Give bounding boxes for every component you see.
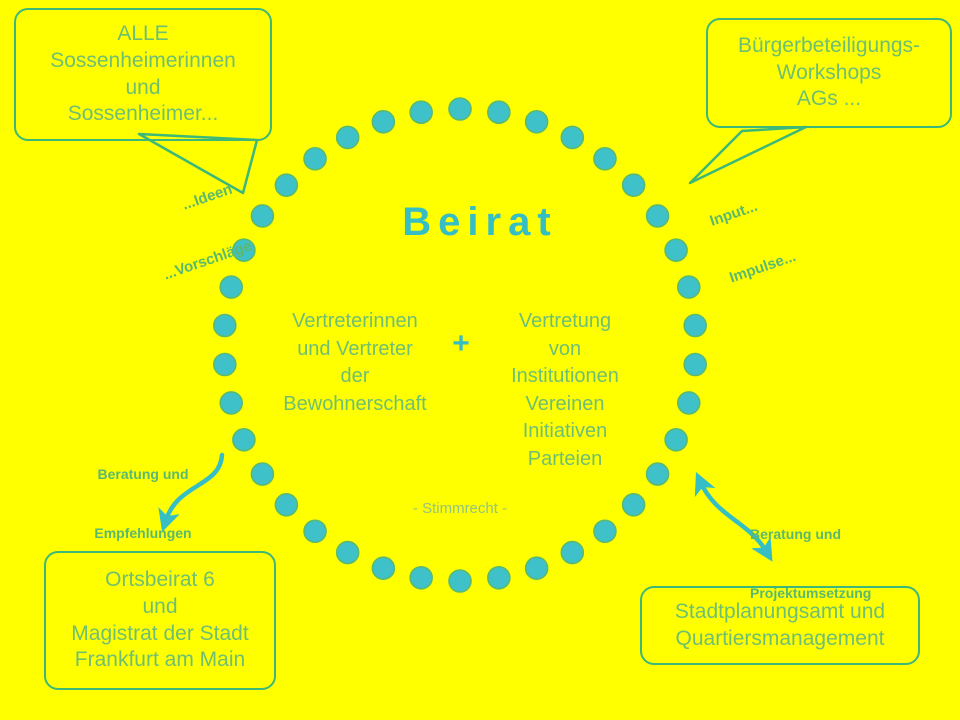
callout-line: Workshops bbox=[777, 60, 882, 87]
ring-dot bbox=[251, 463, 273, 485]
ring-dot bbox=[337, 542, 359, 564]
center-right-line: Initiativen bbox=[482, 418, 648, 446]
ring-dot bbox=[275, 174, 297, 196]
ring-dot bbox=[372, 111, 394, 133]
annotation-line: Beratung und bbox=[750, 525, 920, 545]
center-left-line: der bbox=[272, 363, 438, 391]
ring-dot bbox=[410, 567, 432, 589]
ring-dot bbox=[449, 98, 471, 120]
ring-dot bbox=[526, 557, 548, 579]
center-right-line: Vertretung bbox=[482, 308, 648, 336]
center-right-line: Parteien bbox=[482, 446, 648, 474]
ring-dot bbox=[488, 567, 510, 589]
callout-line: Sossenheimerinnen bbox=[50, 48, 236, 75]
center-left-line: Bewohnerschaft bbox=[272, 391, 438, 419]
annotation-line: Empfehlungen bbox=[80, 524, 206, 544]
ring-dot bbox=[304, 520, 326, 542]
center-right-line: von bbox=[482, 336, 648, 364]
stimmrecht-note: - Stimmrecht - bbox=[330, 500, 590, 517]
ring-dot bbox=[561, 542, 583, 564]
callout-line: Frankfurt am Main bbox=[75, 647, 245, 674]
ring-dot bbox=[372, 557, 394, 579]
ring-dot bbox=[594, 148, 616, 170]
ring-dot bbox=[684, 353, 706, 375]
annotation-line: Projektumsetzung bbox=[750, 584, 920, 604]
callout-line: Bürgerbeteiligungs- bbox=[738, 33, 920, 60]
center-right-line: Vereinen bbox=[482, 391, 648, 419]
annotation-line: Beratung und bbox=[80, 465, 206, 485]
ring-dot bbox=[214, 353, 236, 375]
callout-line: ALLE bbox=[117, 21, 168, 48]
ring-dot bbox=[647, 463, 669, 485]
diagram-canvas: ALLE Sossenheimerinnen und Sossenheimer.… bbox=[0, 0, 960, 720]
page-title: Beirat bbox=[0, 200, 960, 245]
annotation-beratung-empfehlungen: Beratung und Empfehlungen bbox=[80, 426, 206, 583]
ring-dot bbox=[449, 570, 471, 592]
ring-dot bbox=[214, 315, 236, 337]
plus-icon: + bbox=[441, 327, 481, 361]
callout-line: AGs ... bbox=[797, 86, 861, 113]
ring-dot bbox=[410, 101, 432, 123]
callout-line: Magistrat der Stadt bbox=[71, 621, 248, 648]
callout-line: und bbox=[125, 75, 160, 102]
center-column-left: Vertreterinnen und Vertreter der Bewohne… bbox=[272, 308, 438, 418]
ring-dot bbox=[623, 494, 645, 516]
callout-workshops[interactable]: Bürgerbeteiligungs- Workshops AGs ... bbox=[706, 18, 952, 128]
ring-dot bbox=[233, 429, 255, 451]
ring-dot bbox=[220, 392, 242, 414]
ring-dot bbox=[623, 174, 645, 196]
annotation-beratung-projektumsetzung: Beratung und Projektumsetzung bbox=[750, 486, 920, 643]
callout-all-citizens[interactable]: ALLE Sossenheimerinnen und Sossenheimer.… bbox=[14, 8, 272, 141]
annotation-line: Impulse... bbox=[727, 247, 799, 289]
ring-dot bbox=[561, 126, 583, 148]
callout-line: Sossenheimer... bbox=[68, 101, 219, 128]
ring-dot bbox=[488, 101, 510, 123]
ring-dot bbox=[684, 315, 706, 337]
center-column-right: Vertretung von Institutionen Vereinen In… bbox=[482, 308, 648, 474]
ring-dot bbox=[275, 494, 297, 516]
ring-dot bbox=[337, 126, 359, 148]
ring-dot bbox=[678, 276, 700, 298]
ring-dot bbox=[665, 429, 687, 451]
center-left-line: und Vertreter bbox=[272, 336, 438, 364]
center-left-line: Vertreterinnen bbox=[272, 308, 438, 336]
ring-dot bbox=[526, 111, 548, 133]
ring-dot bbox=[594, 520, 616, 542]
ring-dot bbox=[678, 392, 700, 414]
center-right-line: Institutionen bbox=[482, 363, 648, 391]
ring-dot bbox=[304, 148, 326, 170]
callout-line: und bbox=[142, 594, 177, 621]
